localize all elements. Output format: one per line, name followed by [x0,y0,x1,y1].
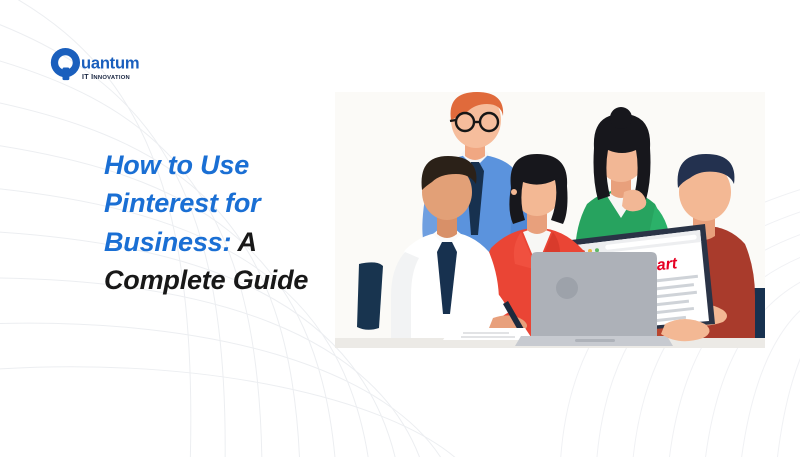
laptop [515,252,673,346]
page-title: How to Use Pinterest for Business: A Com… [104,146,314,299]
logo-tagline: IT INNOVATION [82,74,130,81]
blog-header-banner: uantum IT INNOVATION How to Use Pinteres… [0,0,800,457]
logo-q-mark [51,48,80,80]
team-at-desk-illustration: P Pintrsrart [335,92,765,348]
chair-dark-left [357,262,383,329]
laptop-lid-logo [556,277,578,299]
quantum-it-innovation-logo[interactable]: uantum IT INNOVATION [44,44,156,88]
logo-wordmark: uantum [81,53,139,72]
